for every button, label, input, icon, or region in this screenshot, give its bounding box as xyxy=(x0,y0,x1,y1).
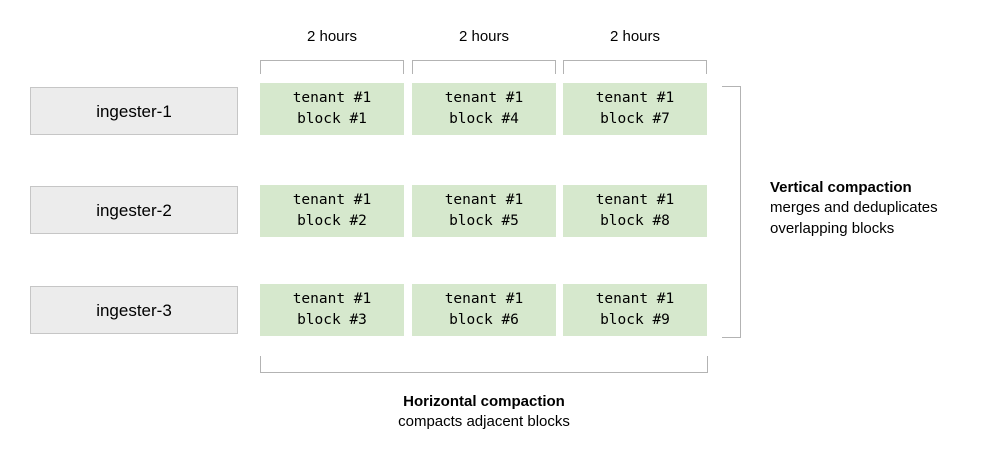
block-tenant-label: tenant #1 xyxy=(596,190,675,211)
block-tenant-label: tenant #1 xyxy=(445,88,524,109)
vertical-compaction-subtitle-line1: merges and deduplicates xyxy=(770,198,990,218)
block-tile[interactable]: tenant #1 block #2 xyxy=(260,185,404,237)
ingester-label-2: ingester-2 xyxy=(96,202,172,219)
ingester-box-3[interactable]: ingester-3 xyxy=(30,286,238,334)
horizontal-compaction-bracket xyxy=(260,356,708,373)
horizontal-compaction-title: Horizontal compaction xyxy=(254,392,714,412)
vertical-compaction-title: Vertical compaction xyxy=(770,178,990,198)
column-duration-label-1: 2 hours xyxy=(260,29,404,44)
ingester-label-1: ingester-1 xyxy=(96,103,172,120)
vertical-compaction-bracket xyxy=(722,86,741,338)
block-tile[interactable]: tenant #1 block #9 xyxy=(563,284,707,336)
column-bracket-3 xyxy=(563,60,707,74)
vertical-compaction-caption: Vertical compaction merges and deduplica… xyxy=(770,178,990,239)
block-tenant-label: tenant #1 xyxy=(445,190,524,211)
block-id-label: block #1 xyxy=(297,109,367,130)
block-id-label: block #5 xyxy=(449,211,519,232)
block-tile[interactable]: tenant #1 block #3 xyxy=(260,284,404,336)
block-tenant-label: tenant #1 xyxy=(293,88,372,109)
block-tenant-label: tenant #1 xyxy=(445,289,524,310)
block-tile[interactable]: tenant #1 block #8 xyxy=(563,185,707,237)
ingester-label-3: ingester-3 xyxy=(96,302,172,319)
block-id-label: block #6 xyxy=(449,310,519,331)
block-id-label: block #7 xyxy=(600,109,670,130)
vertical-compaction-subtitle-line2: overlapping blocks xyxy=(770,219,990,239)
block-tile[interactable]: tenant #1 block #6 xyxy=(412,284,556,336)
ingester-box-1[interactable]: ingester-1 xyxy=(30,87,238,135)
block-id-label: block #4 xyxy=(449,109,519,130)
block-tenant-label: tenant #1 xyxy=(596,289,675,310)
block-tenant-label: tenant #1 xyxy=(596,88,675,109)
column-bracket-1 xyxy=(260,60,404,74)
horizontal-compaction-subtitle-line1: compacts adjacent blocks xyxy=(254,412,714,432)
horizontal-compaction-caption: Horizontal compaction compacts adjacent … xyxy=(254,392,714,433)
block-tile[interactable]: tenant #1 block #7 xyxy=(563,83,707,135)
ingester-box-2[interactable]: ingester-2 xyxy=(30,186,238,234)
column-duration-label-2: 2 hours xyxy=(412,29,556,44)
block-tile[interactable]: tenant #1 block #4 xyxy=(412,83,556,135)
block-id-label: block #3 xyxy=(297,310,367,331)
block-tile[interactable]: tenant #1 block #5 xyxy=(412,185,556,237)
column-duration-label-3: 2 hours xyxy=(563,29,707,44)
block-tile[interactable]: tenant #1 block #1 xyxy=(260,83,404,135)
diagram-canvas: 2 hours 2 hours 2 hours ingester-1 tenan… xyxy=(0,0,1002,453)
block-tenant-label: tenant #1 xyxy=(293,289,372,310)
block-id-label: block #9 xyxy=(600,310,670,331)
column-bracket-2 xyxy=(412,60,556,74)
block-tenant-label: tenant #1 xyxy=(293,190,372,211)
block-id-label: block #8 xyxy=(600,211,670,232)
block-id-label: block #2 xyxy=(297,211,367,232)
